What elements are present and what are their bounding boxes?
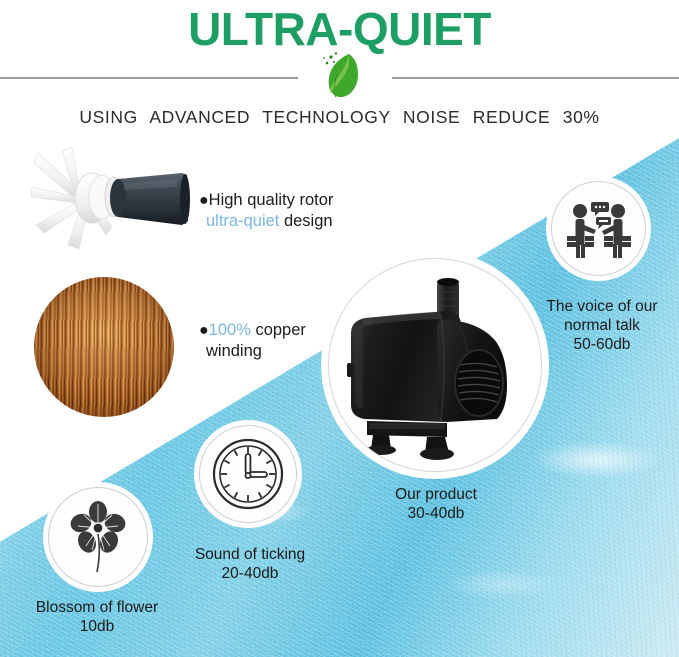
- clock-caption-line-2: 20-40db: [175, 564, 325, 583]
- clock-caption-line-1: Sound of ticking: [175, 545, 325, 564]
- leaf-icon: [305, 50, 375, 100]
- flower-caption-line-2: 10db: [22, 617, 172, 636]
- infographic-canvas: ULTRA-QUIET USING ADVANCED TECHNOLOGY NO…: [0, 0, 679, 657]
- two-people-talking-icon: [551, 181, 646, 276]
- talking-caption: The voice of our normal talk 50-60db: [527, 297, 677, 354]
- winding-highlight: 100%: [209, 321, 251, 339]
- water-pump-image: [328, 258, 542, 472]
- rotor-line-2: design: [279, 212, 332, 230]
- talking-caption-line-3: 50-60db: [527, 335, 677, 354]
- winding-line-1: copper: [251, 321, 306, 339]
- winding-line-2: winding: [206, 342, 262, 360]
- feature-bullet-rotor: ●High quality rotor ultra-quiet design: [199, 190, 333, 232]
- product-caption-line-2: 30-40db: [348, 504, 524, 523]
- copper-winding-image: [34, 277, 174, 417]
- page-subtitle: USING ADVANCED TECHNOLOGY NOISE REDUCE 3…: [0, 107, 679, 128]
- divider-left: [0, 77, 298, 79]
- feature-bullet-winding: ●100% copper winding: [199, 320, 306, 362]
- bullet-dot: ●: [199, 322, 209, 339]
- impeller-rotor-image: [22, 143, 197, 255]
- talking-caption-line-2: normal talk: [527, 316, 677, 335]
- flower-caption-line-1: Blossom of flower: [22, 598, 172, 617]
- flower-caption: Blossom of flower 10db: [22, 598, 172, 636]
- talking-caption-line-1: The voice of our: [527, 297, 677, 316]
- clock-caption: Sound of ticking 20-40db: [175, 545, 325, 583]
- divider-right: [392, 77, 679, 79]
- page-title: ULTRA-QUIET: [0, 2, 679, 56]
- clock-icon: [199, 425, 297, 523]
- rotor-highlight: ultra-quiet: [206, 212, 279, 230]
- product-caption-line-1: Our product: [348, 485, 524, 504]
- bullet-dot: ●: [199, 192, 209, 209]
- rotor-line-1: High quality rotor: [209, 191, 334, 209]
- product-caption: Our product 30-40db: [348, 485, 524, 523]
- flower-icon: [48, 487, 148, 587]
